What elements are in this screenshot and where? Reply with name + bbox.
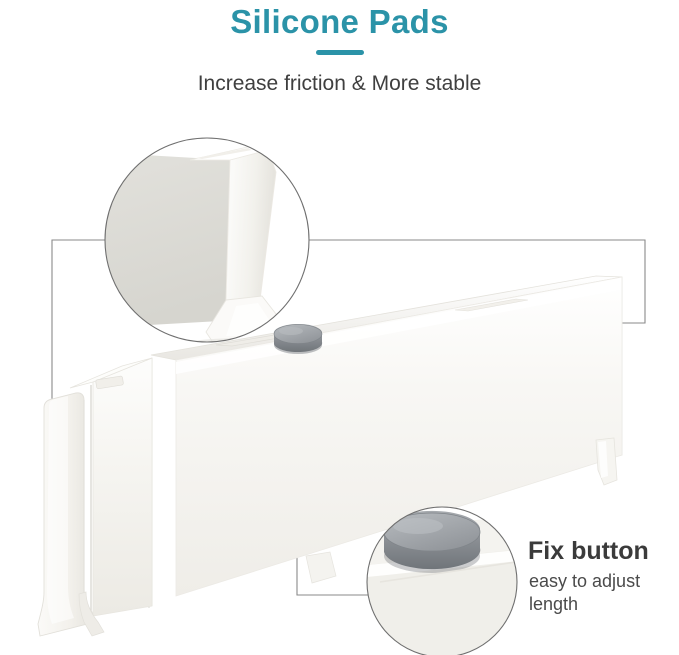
product-infographic: Silicone Pads Increase friction & More s… (0, 0, 679, 655)
magnifier-silicone-pads (60, 138, 326, 352)
fix-button[interactable] (274, 324, 322, 354)
fix-button-callout-subtitle: easy to adjust length (529, 570, 679, 616)
fix-button-callout-title: Fix button (528, 536, 649, 566)
silicone-foot-mid (306, 552, 336, 583)
silicone-foot-right (596, 438, 617, 485)
